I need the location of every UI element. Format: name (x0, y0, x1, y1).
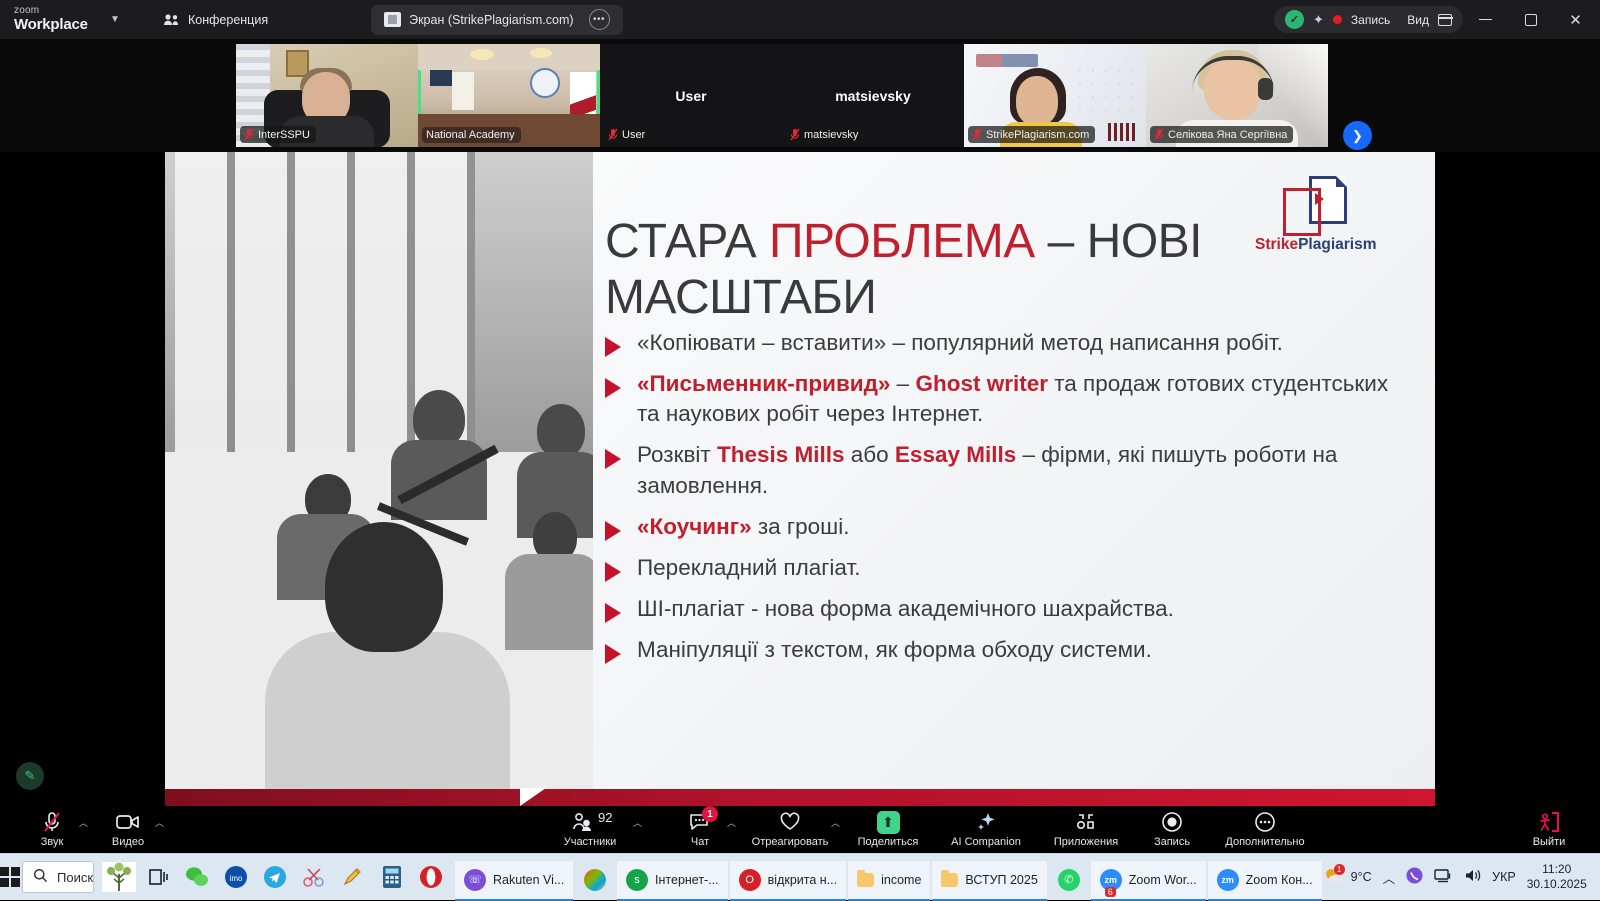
bullet-triangle-icon (605, 521, 621, 541)
imo-icon[interactable]: imo (217, 855, 255, 899)
bullet-triangle-icon (605, 449, 621, 469)
viber-tray-icon[interactable] (1406, 867, 1423, 887)
apps-label: Приложения (1054, 836, 1118, 848)
participant-name-badge: User (604, 126, 651, 143)
decor-qr (1108, 123, 1136, 141)
taskbar-app-internet[interactable]: s Інтернет-... (617, 861, 728, 901)
bullet-text-segment: Маніпуляції з текстом, як форма обходу с… (637, 637, 1152, 662)
taskbar-app-list: ☏ Rakuten Vi... s Інтернет-... O відкрит… (454, 854, 1323, 901)
participant-avatar-name: matsievsky (782, 88, 964, 104)
decor-head (1016, 76, 1058, 126)
slide-bullet-list: «Копіювати – вставити» – популярний мето… (605, 328, 1405, 676)
weather-badge: 1 (1334, 864, 1345, 875)
language-indicator[interactable]: УКР (1492, 870, 1516, 884)
chat-label: Чат (691, 836, 709, 848)
chevron-down-icon[interactable]: ▼ (102, 7, 128, 33)
apps-button[interactable]: Приложения (1038, 806, 1134, 848)
participant-name: matsievsky (804, 129, 858, 141)
windows-taskbar: Поиск imo (0, 853, 1600, 900)
taskbar-app-zoom-workplace[interactable]: zm 6 Zoom Wor... (1091, 861, 1206, 901)
decor-window (452, 72, 474, 110)
reactions-button[interactable]: Отреагировать ︿ (738, 806, 842, 848)
chevron-up-icon[interactable]: ︿ (633, 816, 642, 829)
bullet-text-segment: Ghost writer (915, 371, 1048, 396)
maximize-button[interactable] (1508, 0, 1553, 39)
zoom-icon: zm (1217, 869, 1239, 891)
slide-title-part-1: СТАРА (605, 215, 769, 268)
weather-widget-icon[interactable] (100, 855, 138, 899)
tab-conference[interactable]: Конференция (150, 5, 281, 35)
decor-headset-cup (1258, 78, 1273, 100)
chevron-up-icon[interactable]: ︿ (1383, 868, 1396, 887)
heart-reaction-icon (779, 810, 801, 834)
ai-sparkle-icon[interactable]: ✦ (1313, 12, 1324, 28)
taskbar-pinned-icons: imo (100, 855, 450, 899)
participant-tile[interactable]: StrikePlagiarism.com (964, 44, 1146, 147)
more-button[interactable]: Дополнительно (1210, 806, 1320, 848)
slide-title-part-2: ПРОБЛЕМА (769, 215, 1035, 268)
slide-bullet-item: Маніпуляції з текстом, як форма обходу с… (605, 635, 1405, 665)
shared-screen-stage: ✎ StrikePlagiarism (0, 152, 1600, 806)
bullet-text-segment: «Коучинг» (637, 514, 752, 539)
view-label[interactable]: Вид (1407, 13, 1429, 27)
participant-tile[interactable]: User User (600, 44, 782, 147)
participant-tile[interactable]: matsievsky matsievsky (782, 44, 964, 147)
clock[interactable]: 11:20 30.10.2025 (1527, 862, 1587, 892)
microphone-muted-icon (972, 128, 982, 141)
telegram-icon[interactable] (256, 855, 294, 899)
share-screen-button[interactable]: ⬆ Поделиться (842, 806, 934, 848)
slide-bullet-item: ШІ-плагіат - нова форма академічного шах… (605, 594, 1405, 624)
slide-bullet-text: Розквіт Thesis Mills або Essay Mills – ф… (637, 440, 1405, 500)
slide-bullet-text: Перекладний плагіат. (637, 553, 861, 583)
decor-backdrop-logo (976, 54, 1038, 67)
decor-ceiling (418, 44, 600, 70)
bullet-text-segment: Розквіт (637, 442, 717, 467)
chevron-up-icon[interactable]: ︿ (79, 816, 88, 829)
whatsapp-icon: ✆ (1058, 869, 1080, 891)
slide-footer-band (165, 789, 1435, 806)
decor-person-body (505, 554, 593, 650)
participant-name: National Academy (426, 129, 515, 141)
zoom-title-bar: zoom Workplace ▼ Конференция Экран (Stri… (0, 0, 1600, 39)
decor-person (537, 404, 585, 458)
recording-dot-icon (1333, 15, 1342, 24)
chat-button[interactable]: 1 Чат ︿ (662, 806, 738, 848)
brand-workplace-text: Workplace (14, 17, 92, 33)
leave-label: Выйти (1533, 836, 1566, 848)
slide-photo (165, 152, 593, 789)
bullet-text-segment: Essay Mills (895, 442, 1016, 467)
reactions-label: Отреагировать (752, 836, 829, 848)
tab-screen-share-label: Экран (StrikePlagiarism.com) (409, 13, 573, 27)
slide-bullet-item: Розквіт Thesis Mills або Essay Mills – ф… (605, 440, 1405, 500)
chevron-up-icon[interactable]: ︿ (831, 816, 840, 829)
paint-icon[interactable] (334, 855, 372, 899)
microphone-muted-icon (790, 128, 800, 141)
more-dots-icon[interactable]: ••• (589, 9, 610, 30)
taskbar-app-label: income (881, 873, 921, 887)
decor-screen (430, 70, 452, 86)
taskbar-app-label: ВСТУП 2025 (965, 873, 1037, 887)
chevron-right-icon[interactable]: ❯ (1343, 121, 1372, 150)
taskbar-app-income-folder[interactable]: income (848, 861, 930, 901)
video-label: Видео (112, 836, 144, 848)
slide-bullet-text: «Коучинг» за гроші. (637, 512, 849, 542)
slide-bullet-item: «Копіювати – вставити» – популярний мето… (605, 328, 1405, 358)
search-icon (33, 868, 48, 886)
shield-check-icon[interactable]: ✓ (1285, 10, 1304, 29)
bullet-triangle-icon (605, 378, 621, 398)
taskbar-app-label: Zoom Wor... (1129, 873, 1197, 887)
decor-hex-pattern (1076, 67, 1138, 119)
participant-tile[interactable]: InterSSPU (236, 44, 418, 147)
video-button[interactable]: Видео ︿ (90, 806, 166, 848)
chat-unread-badge: 1 (702, 806, 718, 822)
more-dots-icon (1254, 810, 1276, 834)
layout-grid-icon[interactable] (1438, 14, 1452, 26)
audio-label: Звук (41, 836, 64, 848)
slide-bullet-item: Перекладний плагіат. (605, 553, 1405, 583)
slide-title: СТАРА ПРОБЛЕМА – НОВІ МАСШТАБИ (605, 214, 1395, 325)
participant-name-badge: matsievsky (786, 126, 864, 143)
taskbar-app-zoom-conference[interactable]: zm Zoom Кон... (1208, 861, 1322, 901)
slide-bullet-text: «Копіювати – вставити» – популярний мето… (637, 328, 1283, 358)
participant-name: InterSSPU (258, 129, 310, 141)
taskbar-app-label: Rakuten Vi... (493, 873, 564, 887)
bullet-text-segment: Thesis Mills (717, 442, 845, 467)
bullet-text-segment: «Письменник-привид» (637, 371, 890, 396)
participant-name-badge: National Academy (422, 127, 521, 143)
audio-button[interactable]: Звук ︿ (14, 806, 90, 848)
decor-foreground-person-head (325, 522, 443, 652)
participant-name-badge: Селікова Яна Сергіївна (1150, 126, 1293, 143)
clock-date: 30.10.2025 (1527, 877, 1587, 892)
opera-icon: O (739, 869, 761, 891)
share-screen-icon: ⬆ (877, 810, 900, 834)
tab-screen-share[interactable]: Экран (StrikePlagiarism.com) ••• (371, 5, 622, 35)
participant-name: Селікова Яна Сергіївна (1168, 129, 1287, 141)
participant-tile[interactable]: Селікова Яна Сергіївна (1146, 44, 1328, 147)
video-thumbnail-strip: InterSSPU National Academy User (0, 39, 1600, 152)
presentation-slide: StrikePlagiarism СТАРА ПРОБЛЕМА – НОВІ М… (165, 152, 1435, 806)
search-placeholder: Поиск (57, 870, 93, 885)
weather-tray-item[interactable]: 1 9°C (1323, 866, 1372, 889)
microphone-muted-icon (608, 128, 618, 141)
leave-door-icon (1537, 810, 1561, 834)
bullet-text-segment: ШІ-плагіат - нова форма академічного шах… (637, 596, 1174, 621)
participant-name-badge: StrikePlagiarism.com (968, 126, 1095, 143)
share-screen-label: Поделиться (858, 836, 919, 848)
windows-start-icon[interactable] (0, 854, 20, 901)
network-icon[interactable] (1434, 868, 1453, 886)
bullet-text-segment: Перекладний плагіат. (637, 555, 861, 580)
thumbnail-list: InterSSPU National Academy User (236, 44, 1328, 147)
status-pill: ✓ ✦ Запись Вид (1274, 6, 1463, 33)
participant-avatar-name: User (600, 88, 782, 104)
record-icon (1161, 810, 1183, 834)
volume-icon[interactable] (1464, 868, 1481, 886)
annotate-pencil-icon[interactable]: ✎ (16, 762, 44, 790)
taskbar-app-label: відкрита н... (768, 873, 837, 887)
participants-count: 92 (598, 810, 612, 825)
folder-icon (857, 873, 874, 887)
slide-bullet-text: Маніпуляції з текстом, як форма обходу с… (637, 635, 1152, 665)
microphone-muted-icon (1154, 128, 1164, 141)
taskbar-app-opera[interactable]: O відкрита н... (730, 861, 846, 901)
participants-label: Участники (564, 836, 617, 848)
bullet-triangle-icon (605, 562, 621, 582)
calculator-icon[interactable] (373, 855, 411, 899)
camera-icon (116, 810, 140, 834)
taskbar-app-whatsapp[interactable]: ✆ (1049, 861, 1089, 901)
participants-button[interactable]: Участники 92 ︿ (546, 806, 634, 848)
more-label: Дополнительно (1225, 836, 1304, 848)
zoom-control-bar: Звук ︿ Видео ︿ Участники 92 ︿ (0, 806, 1600, 853)
slide-bullet-text: ШІ-плагіат - нова форма академічного шах… (637, 594, 1174, 624)
titlebar-right-group: ✓ ✦ Запись Вид ✕ (1274, 0, 1600, 39)
participant-name: User (622, 129, 645, 141)
search-input[interactable]: Поиск (22, 861, 94, 893)
bullet-text-segment: «Копіювати – вставити» – популярний мето… (637, 330, 1283, 355)
clock-time: 11:20 (1527, 862, 1587, 877)
leave-button[interactable]: Выйти (1514, 806, 1584, 848)
record-label: Запись (1154, 836, 1190, 848)
decor-foreground-person-body (265, 632, 510, 789)
office-icon (584, 869, 606, 891)
participant-name-badge: InterSSPU (240, 126, 316, 143)
slide-bullet-text: «Письменник-привид» – Ghost writer та пр… (637, 369, 1405, 429)
wechat-icon[interactable] (178, 855, 216, 899)
slide-bullet-item: «Коучинг» за гроші. (605, 512, 1405, 542)
chevron-up-icon[interactable]: ︿ (155, 816, 164, 829)
taskbar-app-viber[interactable]: ☏ Rakuten Vi... (455, 861, 573, 901)
minimize-button[interactable] (1463, 0, 1508, 39)
participant-name: StrikePlagiarism.com (986, 129, 1089, 141)
tab-conference-label: Конференция (188, 13, 268, 27)
decor-lamp (530, 48, 552, 58)
zoom-workplace-logo: zoom Workplace (14, 6, 92, 32)
bullet-triangle-icon (605, 337, 621, 357)
people-icon (163, 13, 180, 26)
chevron-up-icon[interactable]: ︿ (727, 816, 736, 829)
opera-red-icon[interactable] (412, 855, 450, 899)
ai-sparkle-icon (975, 810, 997, 834)
taskbar-app-label: Інтернет-... (655, 873, 719, 887)
screen-share-icon (384, 12, 401, 27)
microphone-muted-icon (42, 810, 62, 834)
bullet-text-segment: або (845, 442, 895, 467)
weather-temperature: 9°C (1351, 870, 1372, 884)
recording-label[interactable]: Запись (1351, 13, 1390, 27)
taskbar-app-office[interactable] (575, 861, 615, 901)
taskbar-app-vstup-folder[interactable]: ВСТУП 2025 (932, 861, 1046, 901)
slide-bullet-item: «Письменник-привид» – Ghost writer та пр… (605, 369, 1405, 429)
participant-tile-active[interactable]: National Academy (418, 44, 600, 147)
bullet-text-segment: за гроші. (752, 514, 850, 539)
record-button[interactable]: Запись (1134, 806, 1210, 848)
snip-sketch-icon[interactable] (295, 855, 333, 899)
chrome-skype-icon: s (626, 869, 648, 891)
bullet-triangle-icon (605, 603, 621, 623)
close-button[interactable]: ✕ (1553, 0, 1598, 39)
apps-icon (1074, 810, 1098, 834)
ai-companion-label: AI Companion (951, 836, 1021, 848)
task-view-icon[interactable] (139, 855, 177, 899)
bullet-text-segment: – (890, 371, 915, 396)
viber-icon: ☏ (464, 869, 486, 891)
decor-emblem (530, 68, 560, 98)
folder-icon (941, 873, 958, 887)
decor-lamp (470, 49, 494, 60)
taskbar-app-label: Zoom Кон... (1246, 873, 1313, 887)
svg-text:imo: imo (230, 874, 243, 883)
microphone-muted-icon (244, 128, 254, 141)
ai-companion-button[interactable]: AI Companion (934, 806, 1038, 848)
bullet-triangle-icon (605, 644, 621, 664)
taskbar-badge: 6 (1105, 887, 1116, 897)
system-tray: 1 9°C ︿ УКР 11:20 30.10.2025 9 (1323, 862, 1600, 892)
